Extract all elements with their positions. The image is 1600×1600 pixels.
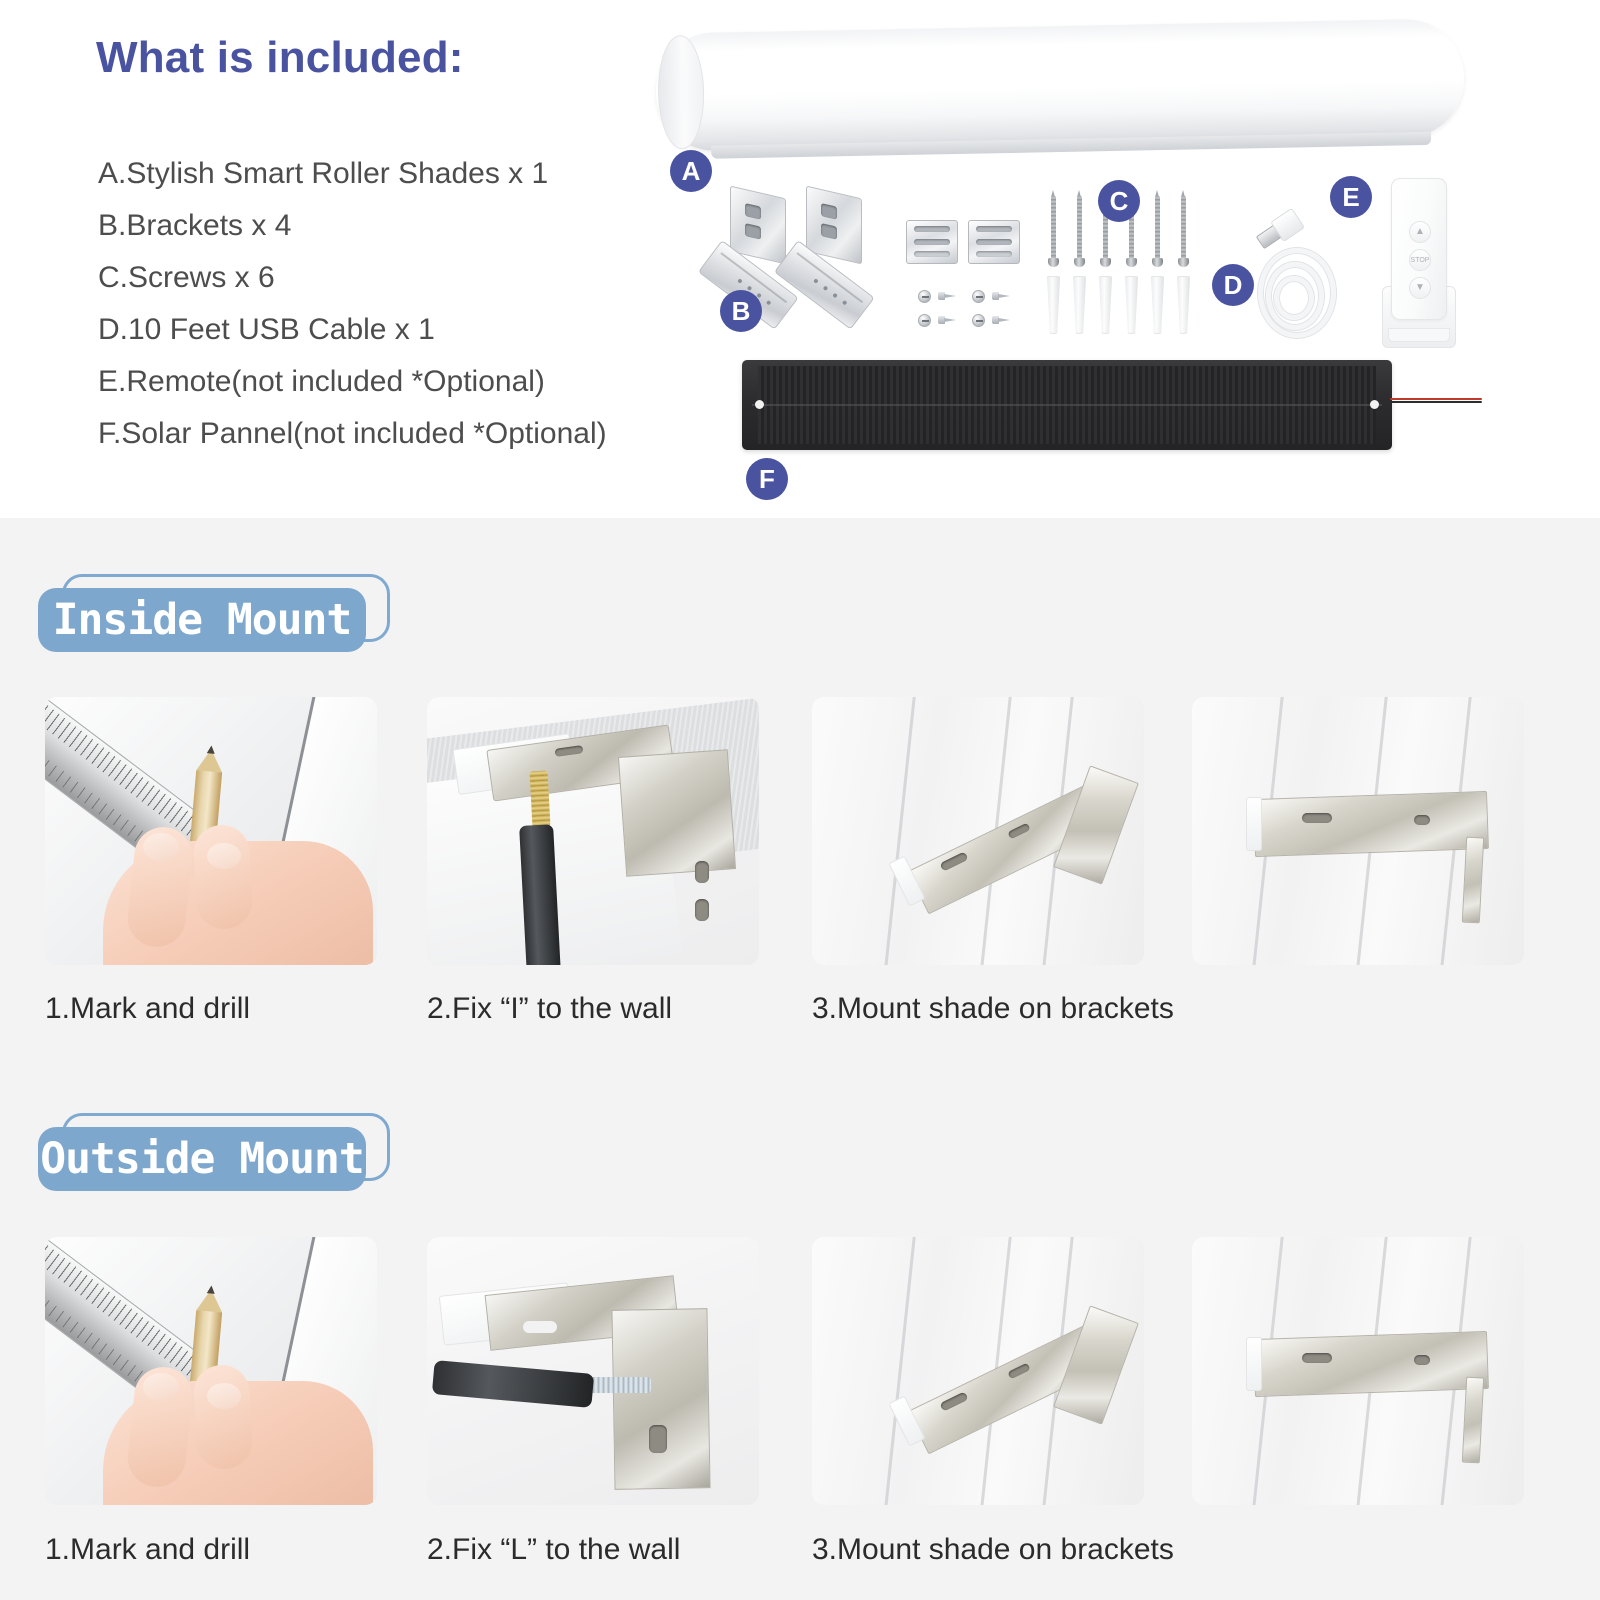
screws-group [1048,196,1232,346]
remote-stop-button: STOP [1409,249,1431,271]
outside-step2-photo [427,1237,759,1505]
what-is-included-section: What is included: A.Stylish Smart Roller… [0,0,1600,518]
outside-step3-caption: 3.Mount shade on brackets [812,1533,1174,1567]
remote-down-button: ▼ [1409,277,1431,299]
solar-panel-wire [1390,398,1482,403]
part-badge-f: F [746,458,788,500]
usb-cable-image [1242,218,1360,350]
outside-mount-badge: Outside Mount [38,1113,390,1191]
page-title: What is included: [96,33,464,83]
small-screws-group [918,290,1038,338]
mounting-instructions-area: Inside Mount [0,518,1600,1600]
outside-mount-badge-label: Outside Mount [38,1127,366,1191]
outside-step1-photo [45,1237,377,1505]
outside-mount-section: Outside Mount [0,1065,1600,1600]
inside-step3-caption: 3.Mount shade on brackets [812,992,1174,1026]
part-badge-b: B [720,290,762,332]
inside-step2-photo [427,697,759,965]
inside-step3-photo-a [812,697,1144,965]
outside-step3-photo-b [1192,1237,1524,1505]
bracket-image-2 [798,192,890,318]
inside-step1-caption: 1.Mark and drill [45,992,250,1026]
inside-mount-badge: Inside Mount [38,574,390,652]
roller-shade-image [655,18,1465,151]
inside-step2-caption: 2.Fix “I” to the wall [427,992,672,1026]
parts-illustration-area: A [620,0,1600,518]
solar-panel-image [742,360,1392,450]
inside-mount-badge-label: Inside Mount [38,588,366,652]
remote-control-image: ▲ STOP ▼ [1382,178,1456,348]
part-badge-e: E [1330,176,1372,218]
part-badge-a: A [670,150,712,192]
clip-bracket-1 [906,220,958,264]
inside-step1-photo [45,697,377,965]
part-badge-c: C [1098,180,1140,222]
part-badge-d: D [1212,264,1254,306]
outside-step2-caption: 2.Fix “L” to the wall [427,1533,680,1567]
outside-step3-photo-a [812,1237,1144,1505]
clip-bracket-2 [968,220,1020,264]
inside-step3-photo-b [1192,697,1524,965]
inside-mount-section: Inside Mount [0,518,1600,1065]
remote-up-button: ▲ [1409,221,1431,243]
outside-step1-caption: 1.Mark and drill [45,1533,250,1567]
